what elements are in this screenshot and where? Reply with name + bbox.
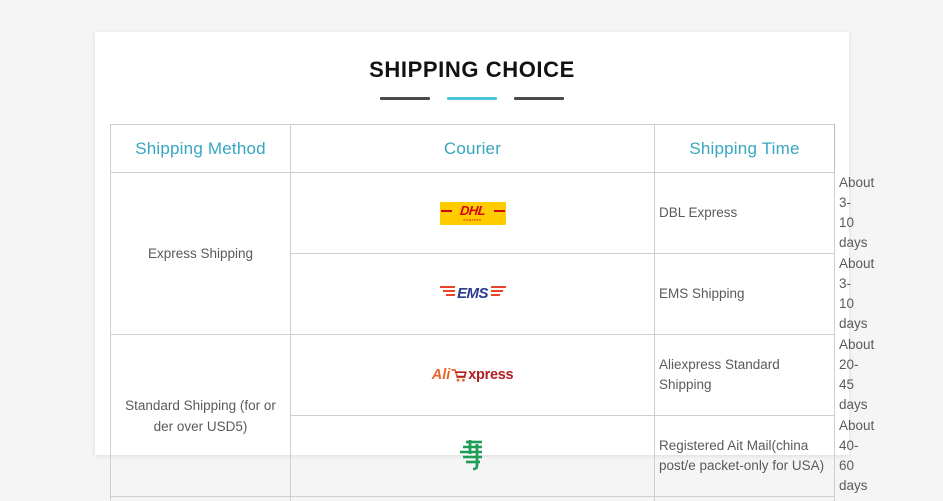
column-header-shipping-time: Shipping Time (655, 125, 835, 173)
column-header-courier: Courier (291, 125, 655, 173)
dhl-logo: DHL express (440, 202, 506, 225)
dhl-logo-subtext: express (463, 217, 481, 222)
china-post-logo (453, 434, 493, 474)
table-row: Standard Shipping (for or der over USD5)… (111, 335, 835, 416)
table-header: Shipping Method Courier Shipping Time (111, 125, 835, 173)
shipping-table: Shipping Method Courier Shipping Time Ex… (110, 124, 835, 501)
logo-cell-united-nations (291, 497, 655, 501)
courier-name-dhl: DBL Express (655, 173, 835, 254)
rule-dark-right (514, 97, 564, 100)
aliexpress-logo-xpress: xpress (468, 367, 513, 383)
column-header-shipping-method: Shipping Method (111, 125, 291, 173)
method-line-2: der over USD5) (154, 419, 248, 434)
title-block: SHIPPING CHOICE (95, 57, 849, 100)
rule-dark-left (380, 97, 430, 100)
courier-name-aliexpress: Aliexpress Standard Shipping (655, 335, 835, 416)
dhl-logo-text: DHL (459, 205, 485, 217)
table-body: Express Shipping DHL express DBL Express… (111, 173, 835, 501)
logo-cell-china-post (291, 416, 655, 497)
aliexpress-logo-ali: Ali (432, 367, 451, 383)
logo-cell-aliexpress: Ali xpress (291, 335, 655, 416)
table-row: Express Shipping DHL express DBL Express… (111, 173, 835, 254)
table-row: Economy Shipping (for or der under USD5) (111, 497, 835, 501)
ems-logo-text: EMS (457, 286, 488, 302)
method-cell-economy: Economy Shipping (for or der under USD5) (111, 497, 291, 501)
logo-cell-ems: EMS (291, 254, 655, 335)
table-header-row: Shipping Method Courier Shipping Time (111, 125, 835, 173)
china-post-icon (453, 434, 493, 474)
method-line-1: Standard Shipping (for or (125, 398, 276, 413)
page-title: SHIPPING CHOICE (95, 57, 849, 83)
method-cell-express: Express Shipping (111, 173, 291, 335)
courier-name-ems: EMS Shipping (655, 254, 835, 335)
aliexpress-logo: Ali xpress (432, 365, 514, 385)
decorative-rule-row (95, 97, 849, 100)
courier-name-china-post: Registered Ait Mail(china post/e packet-… (655, 416, 835, 497)
shopping-cart-icon (451, 368, 467, 383)
shipping-choice-card: SHIPPING CHOICE Shipping Method Courier … (95, 32, 849, 455)
courier-name-economy-post: Economy Post(finland economy/ SG economy… (655, 497, 835, 501)
page-root: SHIPPING CHOICE Shipping Method Courier … (0, 0, 943, 501)
rule-accent (447, 97, 497, 100)
ems-logo: EMS (440, 282, 506, 306)
method-cell-standard: Standard Shipping (for or der over USD5) (111, 335, 291, 497)
logo-cell-dhl: DHL express (291, 173, 655, 254)
